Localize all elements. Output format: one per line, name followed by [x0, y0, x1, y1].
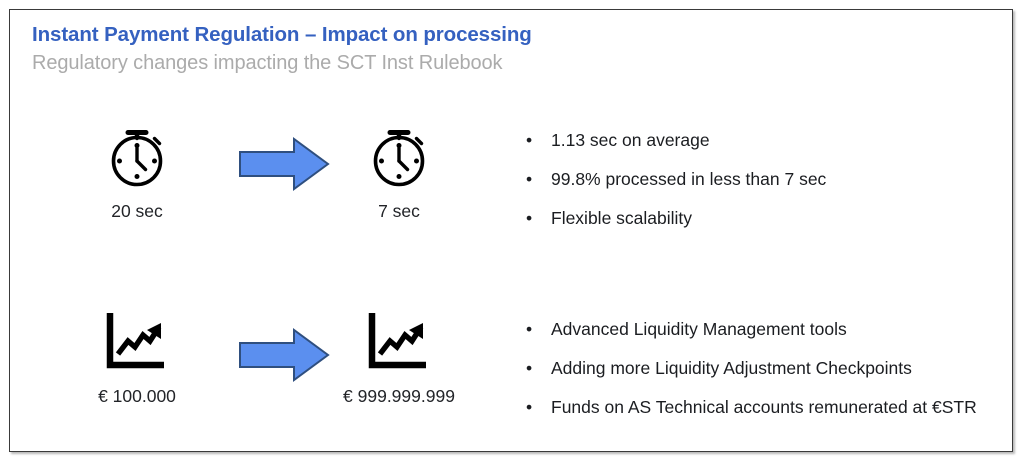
list-item: • Adding more Liquidity Adjustment Check… — [518, 354, 998, 382]
metric-caption-after: € 999.999.999 — [319, 386, 479, 407]
right-arrow-icon — [238, 136, 330, 192]
page-title: Instant Payment Regulation – Impact on p… — [32, 23, 532, 47]
list-item: • 1.13 sec on average — [518, 126, 998, 154]
content-row-processing-time: 20 sec — [10, 120, 1014, 240]
metric-before-processing-time: 20 sec — [57, 120, 217, 222]
bullet-dot-icon: • — [526, 393, 532, 421]
slide-canvas: Instant Payment Regulation – Impact on p… — [9, 9, 1013, 452]
list-item-label: Adding more Liquidity Adjustment Checkpo… — [551, 358, 912, 378]
bullet-dot-icon: • — [526, 315, 532, 343]
list-item-label: Funds on AS Technical accounts remunerat… — [551, 397, 977, 417]
bullet-dot-icon: • — [526, 126, 532, 154]
bullet-dot-icon: • — [526, 204, 532, 232]
growth-chart-icon — [57, 305, 217, 377]
bullet-dot-icon: • — [526, 165, 532, 193]
metric-before-liquidity: € 100.000 — [57, 305, 217, 407]
metric-caption-before: 20 sec — [57, 201, 217, 222]
stopwatch-icon — [319, 120, 479, 192]
content-row-liquidity-limits: € 100.000 € 999.999.999 • Advanced Liqui… — [10, 305, 1014, 440]
metric-caption-before: € 100.000 — [57, 386, 217, 407]
list-item-label: 99.8% processed in less than 7 sec — [551, 169, 826, 189]
list-item: • Advanced Liquidity Management tools — [518, 315, 998, 343]
list-item-label: 1.13 sec on average — [551, 130, 710, 150]
right-arrow-icon — [238, 327, 330, 383]
bullet-list-liquidity: • Advanced Liquidity Management tools • … — [518, 315, 998, 432]
list-item: • 99.8% processed in less than 7 sec — [518, 165, 998, 193]
stopwatch-icon — [57, 120, 217, 192]
metric-after-liquidity: € 999.999.999 — [319, 305, 479, 407]
list-item-label: Flexible scalability — [551, 208, 692, 228]
bullet-dot-icon: • — [526, 354, 532, 382]
list-item-label: Advanced Liquidity Management tools — [551, 319, 847, 339]
list-item: • Funds on AS Technical accounts remuner… — [518, 393, 998, 421]
page-subtitle: Regulatory changes impacting the SCT Ins… — [32, 52, 502, 75]
list-item: • Flexible scalability — [518, 204, 998, 232]
metric-after-processing-time: 7 sec — [319, 120, 479, 222]
growth-chart-icon — [319, 305, 479, 377]
metric-caption-after: 7 sec — [319, 201, 479, 222]
bullet-list-processing-time: • 1.13 sec on average • 99.8% processed … — [518, 126, 998, 243]
